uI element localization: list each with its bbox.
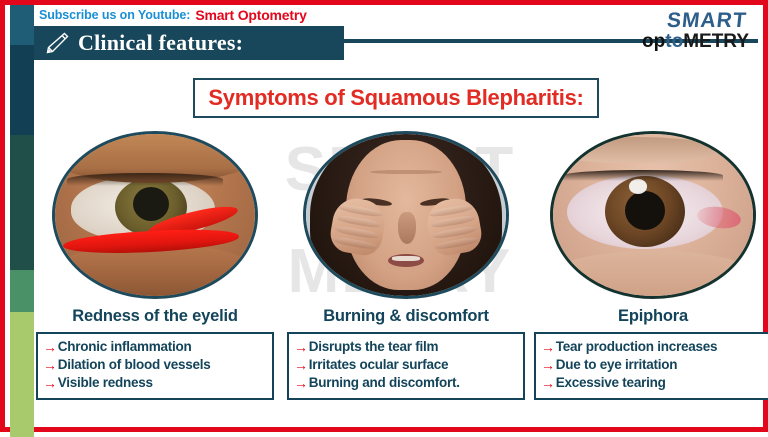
content-columns: Redness of the eyelid → Chronic inflamma… <box>34 131 753 431</box>
subscribe-channel-name: Smart Optometry <box>195 7 306 23</box>
column-redness: Redness of the eyelid → Chronic inflamma… <box>36 131 274 400</box>
section-header-title: Clinical features: <box>78 30 243 56</box>
bullet-text: Chronic inflammation <box>58 338 192 356</box>
logo-smart-text: SMART <box>666 9 748 33</box>
image-frame-burning <box>303 131 509 299</box>
main-title-text: Symptoms of Squamous Blepharitis: <box>208 85 583 111</box>
list-item: → Dilation of blood vessels <box>43 356 268 374</box>
bullet-text: Dilation of blood vessels <box>58 356 211 374</box>
arrow-icon: → <box>294 356 308 374</box>
arrow-icon: → <box>294 374 308 392</box>
arrow-icon: → <box>541 356 555 374</box>
rail-segment-3 <box>10 135 34 270</box>
arrow-icon: → <box>43 338 57 356</box>
slide: Subscribe us on Youtube: Smart Optometry… <box>0 0 768 432</box>
rail-segment-2 <box>10 45 34 135</box>
bullet-text: Disrupts the tear film <box>309 338 439 356</box>
rail-segment-5 <box>10 312 34 437</box>
list-item: → Tear production increases <box>541 338 766 356</box>
bullet-box-burning: → Disrupts the tear film → Irritates ocu… <box>287 332 525 400</box>
list-item: → Disrupts the tear film <box>294 338 519 356</box>
bullet-box-epiphora: → Tear production increases → Due to eye… <box>534 332 768 400</box>
oval-border <box>550 131 756 299</box>
bullet-text: Excessive tearing <box>556 374 666 392</box>
logo-metry: METRY <box>683 31 749 53</box>
arrow-icon: → <box>294 338 308 356</box>
list-item: → Visible redness <box>43 374 268 392</box>
main-title-box: Symptoms of Squamous Blepharitis: <box>193 78 599 118</box>
list-item: → Irritates ocular surface <box>294 356 519 374</box>
arrow-icon: → <box>43 374 57 392</box>
photo-woman-rubbing-eyes <box>306 134 506 296</box>
image-frame-redness <box>52 131 258 299</box>
list-item: → Burning and discomfort. <box>294 374 519 392</box>
bullet-box-redness: → Chronic inflammation → Dilation of blo… <box>36 332 274 400</box>
logo-op: op <box>642 31 665 53</box>
list-item: → Due to eye irritation <box>541 356 766 374</box>
bullet-text: Burning and discomfort. <box>309 374 460 392</box>
rail-segment-1 <box>10 5 34 45</box>
section-header-bar: Clinical features: <box>34 26 344 60</box>
oval-border <box>303 131 509 299</box>
caption-burning: Burning & discomfort <box>287 307 525 326</box>
column-epiphora: Epiphora → Tear production increases → D… <box>534 131 768 400</box>
bullet-text: Tear production increases <box>556 338 718 356</box>
list-item: → Chronic inflammation <box>43 338 268 356</box>
bullet-text: Irritates ocular surface <box>309 356 449 374</box>
caption-epiphora: Epiphora <box>534 307 768 326</box>
caption-redness: Redness of the eyelid <box>36 307 274 326</box>
column-burning: Burning & discomfort → Disrupts the tear… <box>287 131 525 400</box>
bullet-text: Due to eye irritation <box>556 356 678 374</box>
logo-optometry-text: optoMETRY <box>642 31 749 53</box>
list-item: → Excessive tearing <box>541 374 766 392</box>
color-rail <box>10 5 34 427</box>
rail-segment-4 <box>10 270 34 312</box>
image-frame-epiphora <box>550 131 756 299</box>
brand-logo: SMART optoMETRY <box>629 9 749 59</box>
logo-to: to <box>665 31 683 53</box>
subscribe-prefix: Subscribe us on Youtube: <box>39 8 190 22</box>
bullet-text: Visible redness <box>58 374 153 392</box>
arrow-icon: → <box>541 374 555 392</box>
pencil-icon <box>44 31 70 55</box>
arrow-icon: → <box>43 356 57 374</box>
oval-border <box>52 131 258 299</box>
photo-red-eyelid <box>55 134 255 296</box>
arrow-icon: → <box>541 338 555 356</box>
photo-watery-eye <box>553 134 753 296</box>
